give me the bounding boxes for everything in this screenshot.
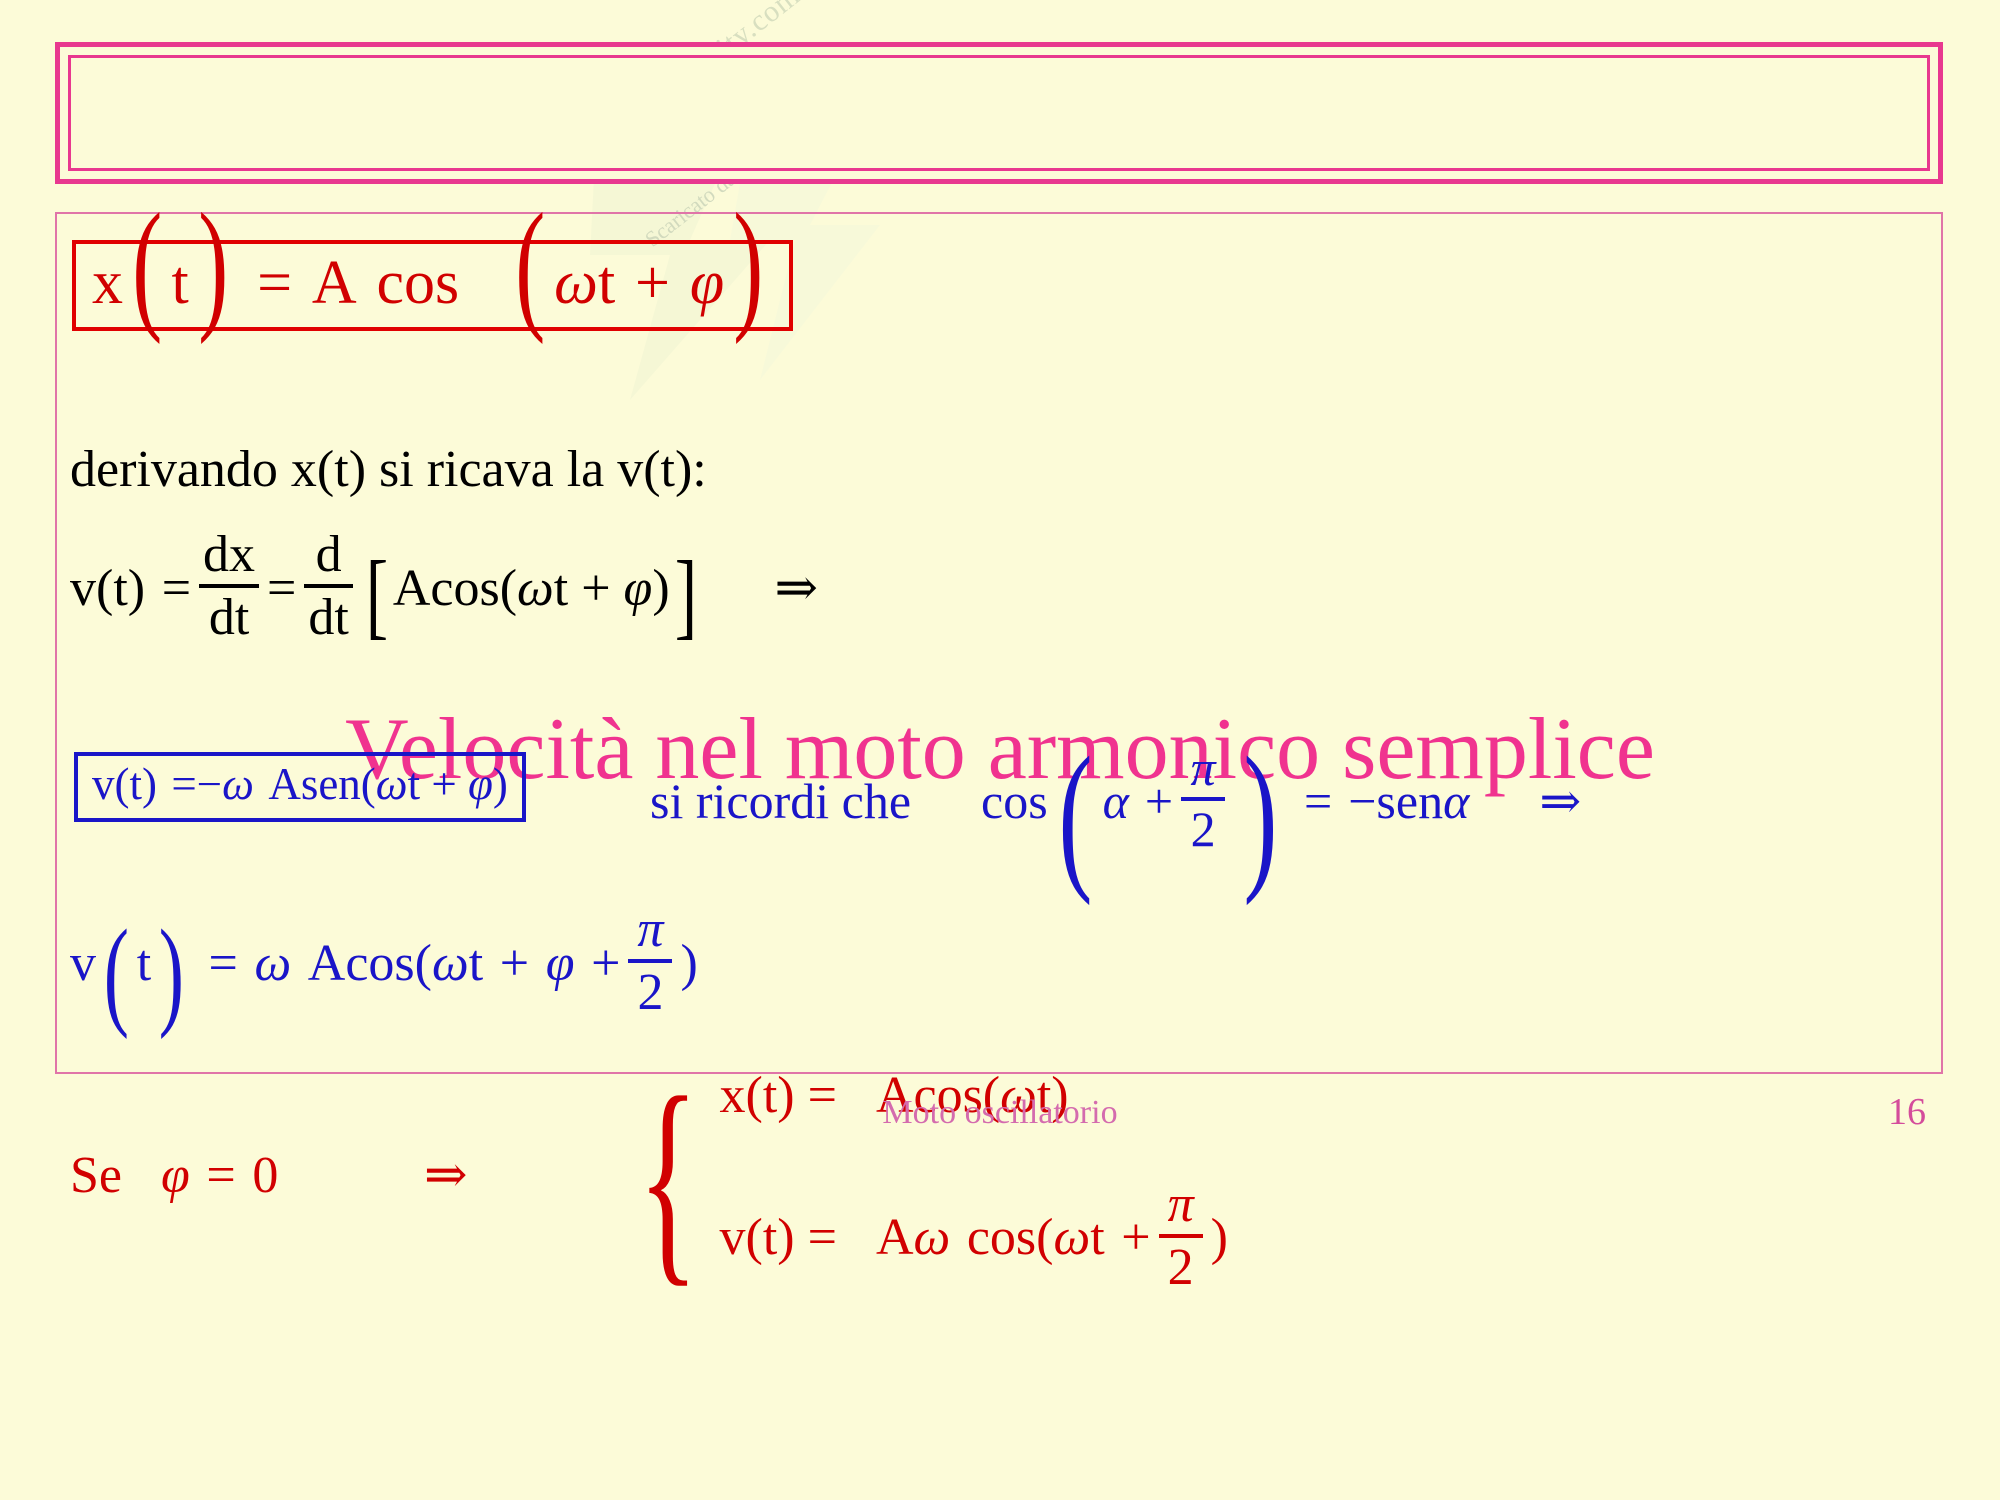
eq-vbox-lhs: v(t)	[92, 759, 157, 809]
condition-se: Se	[70, 1146, 122, 1205]
eq-vdef-equals-2: =	[267, 559, 296, 618]
eq-position-time: t	[598, 249, 615, 317]
fraction-pi-over-two: π 2	[628, 903, 672, 1019]
eq-position-amplitude: A	[312, 249, 357, 317]
eq-vfinal-plus-2: +	[591, 934, 620, 993]
fraction-bar	[199, 584, 259, 588]
note-identity-implies: ⇒	[1539, 772, 1581, 830]
fraction-denominator-dt: dt	[205, 591, 253, 644]
condition-equals: =	[206, 1146, 235, 1205]
eq-position-arg: t	[172, 249, 189, 317]
page-number: 16	[1888, 1090, 1926, 1134]
eq-vfinal-equals: =	[208, 934, 237, 993]
eq-vfinal-time: t	[469, 934, 483, 993]
eq-vbox-minus: −	[197, 759, 222, 809]
case-velocity-omega: ω	[914, 1208, 951, 1267]
fraction-denominator-two: 2	[633, 966, 667, 1019]
eq-vfinal-omega: ω	[254, 934, 291, 993]
eq-position-omega: ω	[554, 249, 598, 317]
eq-vbox-expr: Asen(ωt + φ)	[268, 759, 508, 809]
fraction-numerator-d: d	[312, 528, 346, 581]
eq-vfinal-t: t	[137, 934, 151, 993]
eq-vdef-lhs: v(t)	[70, 559, 145, 618]
eq-vbox-omega: ω	[222, 759, 254, 809]
fraction-numerator-pi: π	[1164, 1178, 1198, 1231]
slide-title-frame	[55, 42, 1943, 184]
eq-vfinal-v: v	[70, 934, 96, 993]
eq-vdef-inner: Acos(ωt + φ)	[393, 559, 670, 618]
eq-position-cos: cos	[377, 249, 460, 317]
text-derivando: derivando x(t) si ricava la v(t):	[70, 440, 707, 499]
eq-vbox-equals: =	[171, 759, 196, 809]
fraction-denominator-dt: dt	[304, 591, 352, 644]
eq-position-phi: φ	[690, 249, 724, 317]
eq-vfinal-expr-start: Acos(	[308, 934, 432, 993]
fraction-pi-over-two: π 2	[1181, 743, 1225, 855]
note-identity-plus: +	[1145, 772, 1173, 830]
equation-velocity-definition: v(t) = dx dt = d dt [ Acos(ωt + φ) ] ⇒	[70, 530, 818, 646]
eq-vdef-equals-1: =	[162, 559, 191, 618]
case-velocity-time: t	[1090, 1208, 1104, 1267]
eq-position-plus: +	[635, 249, 670, 317]
condition-phi: φ	[161, 1146, 190, 1205]
case-velocity-lhs: v(t) =	[720, 1208, 837, 1267]
case-velocity-omega2: ω	[1053, 1208, 1090, 1267]
eq-vfinal-omega2: ω	[432, 934, 469, 993]
fraction-denominator-two: 2	[1164, 1241, 1198, 1294]
case-velocity-cos: cos(	[967, 1208, 1054, 1267]
fraction-bar	[1159, 1234, 1203, 1238]
eq-position-lhs: x	[92, 249, 123, 317]
eq-position-equals: =	[257, 249, 292, 317]
fraction-bar	[304, 584, 352, 588]
fraction-pi-over-two: π 2	[1159, 1178, 1203, 1294]
note-identity-alpha: α	[1103, 772, 1129, 830]
eq-vfinal-plus-1: +	[500, 934, 529, 993]
note-identity-text: si ricordi che	[650, 772, 911, 830]
fraction-numerator-pi: π	[1187, 743, 1220, 794]
eq-vfinal-phi: φ	[546, 934, 575, 993]
note-identity-rhs: −senα	[1348, 772, 1469, 830]
equation-position-boxed: x(t)=Acos(ωt+φ)	[72, 240, 793, 331]
fraction-bar	[628, 959, 672, 963]
note-identity-equals: =	[1304, 772, 1332, 830]
note-identity-cos: cos	[981, 772, 1048, 830]
case-velocity-amplitude: A	[876, 1208, 914, 1267]
condition-implies: ⇒	[424, 1145, 468, 1205]
case-velocity-plus: +	[1121, 1208, 1150, 1267]
note-cosine-identity: si ricordi che cos ( α + π 2 ) = −senα ⇒	[650, 745, 1581, 857]
equation-velocity-final: v(t) = ω Acos(ωt + φ + π 2 )	[70, 905, 698, 1021]
case-velocity: v(t) =Aωcos(ωt+ π 2 )	[720, 1180, 1228, 1296]
footer-label: Moto oscillatorio	[0, 1094, 2000, 1132]
equation-velocity-boxed: v(t)=−ωAsen(ωt + φ)	[74, 752, 526, 822]
fraction-denominator-two: 2	[1187, 804, 1220, 855]
condition-zero: 0	[252, 1146, 278, 1205]
fraction-numerator-dx: dx	[199, 528, 259, 581]
eq-vfinal-close: )	[680, 934, 697, 993]
fraction-d-dt: d dt	[304, 528, 352, 644]
eq-vdef-implies: ⇒	[774, 558, 818, 618]
fraction-numerator-pi: π	[633, 903, 667, 956]
case-velocity-close: )	[1211, 1208, 1228, 1267]
fraction-dx-dt: dx dt	[199, 528, 259, 644]
slide-title-frame-inner	[68, 55, 1930, 171]
